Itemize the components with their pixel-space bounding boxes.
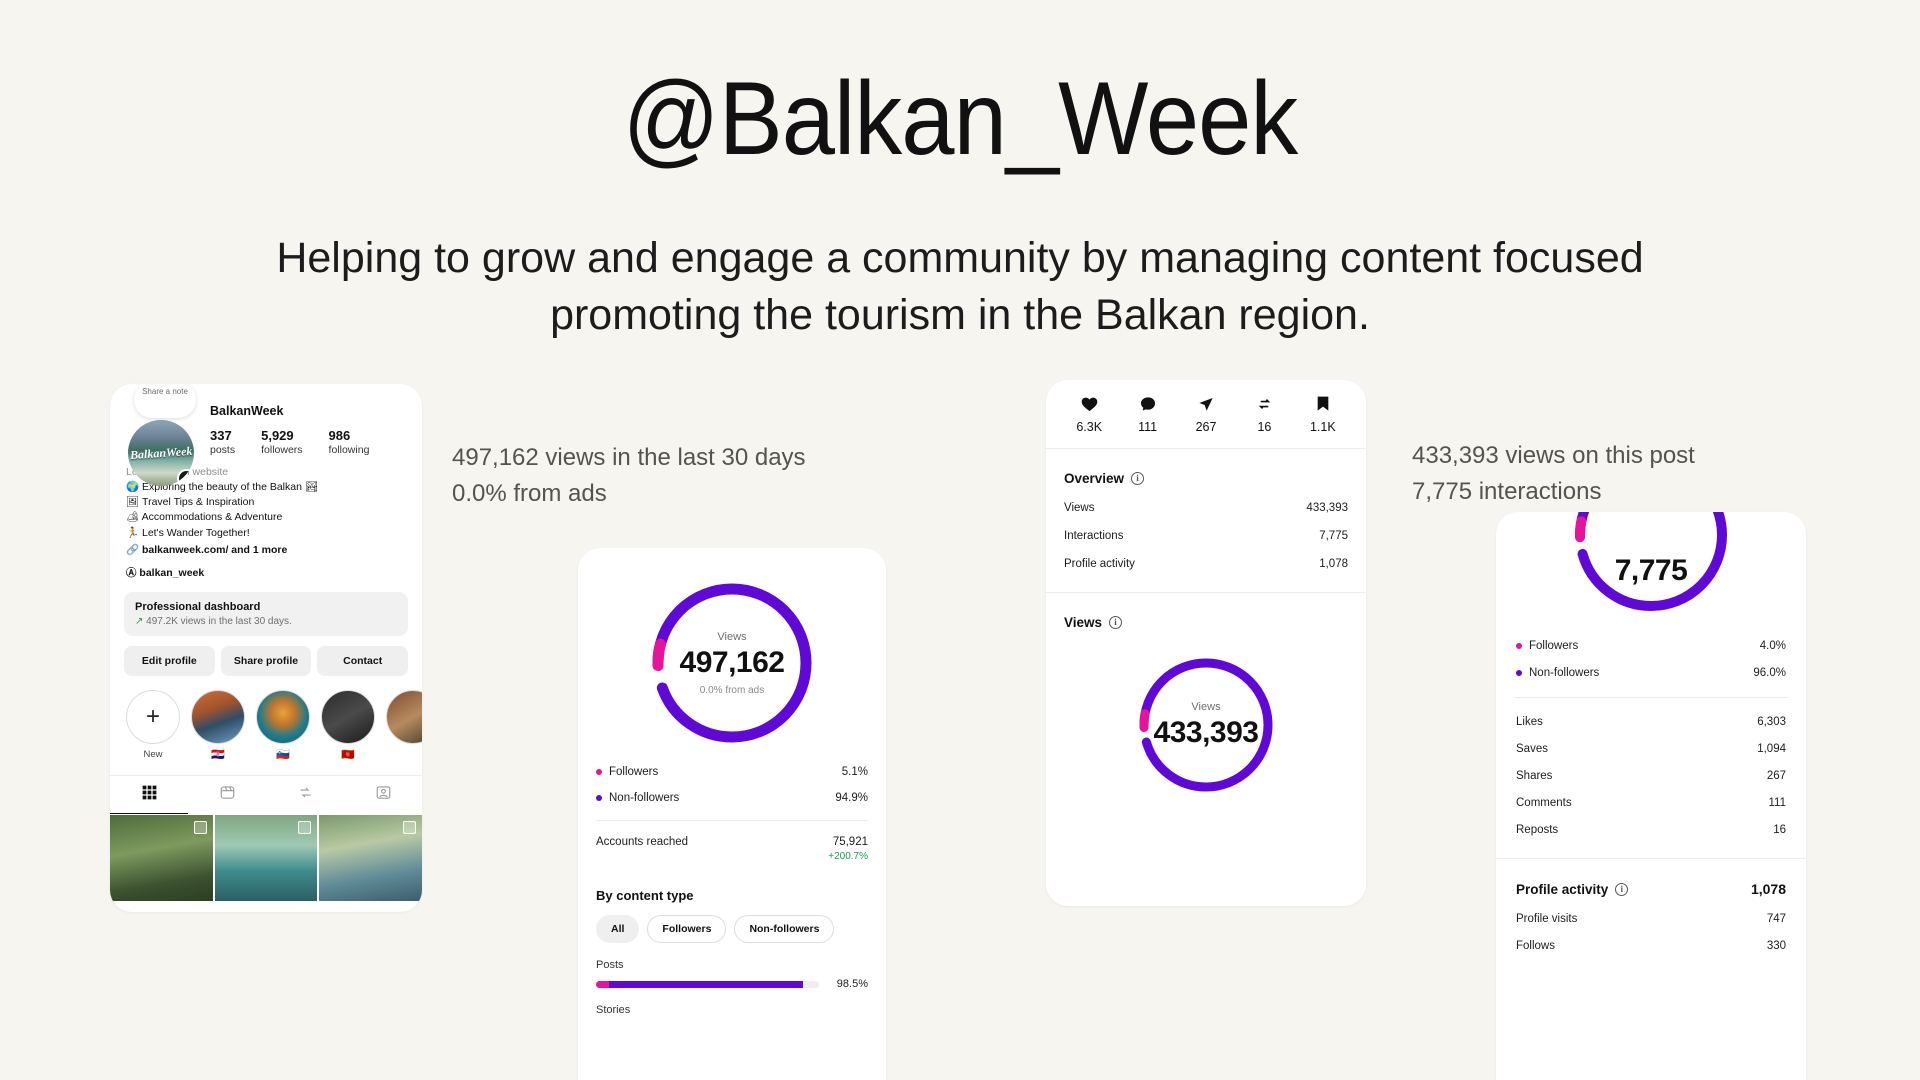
metric-shares[interactable]: 267 — [1177, 396, 1235, 434]
comment-icon — [1118, 396, 1176, 416]
tab-reposts[interactable] — [266, 776, 344, 814]
bar-label-posts: Posts — [578, 959, 886, 971]
row-value: 6,303 — [1757, 716, 1786, 728]
legend-value-followers: 4.0% — [1760, 640, 1786, 652]
legend-label-nonfollowers: Non-followers — [1529, 667, 1599, 679]
repost-icon — [1235, 396, 1293, 416]
legend-value-followers: 5.1% — [842, 766, 868, 778]
engagement-icons-row: 6.3K 111 267 16 — [1046, 380, 1366, 448]
metric-likes[interactable]: 6.3K — [1060, 396, 1118, 434]
legend-dot-followers — [596, 769, 602, 775]
views-donut-caption: Views — [717, 631, 746, 643]
page-title: @Balkan_Week — [77, 60, 1843, 180]
legend-label-followers: Followers — [1529, 640, 1578, 652]
tab-reels[interactable] — [188, 776, 266, 814]
row-saves[interactable]: Saves 1,094 — [1496, 743, 1806, 755]
highlight-new[interactable]: + New — [126, 690, 180, 761]
divider — [1496, 858, 1806, 859]
profile-activity-title: Profile activity — [1516, 882, 1608, 897]
highlight-thumb — [191, 690, 245, 744]
dashboard-subtitle: ↗ 497.2K views in the last 30 days. — [135, 616, 397, 627]
chip-non-followers[interactable]: Non-followers — [734, 915, 834, 943]
row-value: 330 — [1767, 940, 1786, 952]
overview-donut-caption: Views — [1191, 701, 1220, 713]
row-value: 16 — [1773, 824, 1786, 836]
post-caption: 433,393 views on this post 7,775 interac… — [1412, 438, 1695, 509]
overview-panel: 6.3K 111 267 16 — [1046, 380, 1366, 906]
stat-posts-label: posts — [210, 444, 235, 456]
accounts-reached-label: Accounts reached — [596, 836, 688, 848]
row-reposts[interactable]: Reposts 16 — [1496, 824, 1806, 836]
metric-saves-value: 1.1K — [1294, 420, 1352, 434]
legend-label-nonfollowers: Non-followers — [609, 792, 679, 804]
post-grid — [110, 815, 422, 901]
overview-donut-value: 433,393 — [1154, 716, 1259, 750]
share-a-note-bubble[interactable]: Share a note — [134, 384, 196, 418]
overview-row-label: Profile activity — [1064, 558, 1135, 570]
stat-following[interactable]: 986 following — [329, 428, 370, 456]
overview-header: Overview i — [1046, 449, 1366, 486]
metric-comments[interactable]: 111 — [1118, 396, 1176, 434]
accounts-reached-row[interactable]: Accounts reached 75,921 +200.7% — [578, 836, 886, 862]
row-likes[interactable]: Likes 6,303 — [1496, 716, 1806, 728]
overview-row-label: Interactions — [1064, 530, 1123, 542]
overview-row-profile-activity[interactable]: Profile activity 1,078 — [1046, 558, 1366, 570]
profile-stats: 337 posts 5,929 followers 986 following — [210, 428, 406, 456]
carousel-icon — [194, 821, 207, 834]
info-icon[interactable]: i — [1131, 472, 1144, 485]
profile-link[interactable]: 🔗 balkanweek.com/ and 1 more — [126, 543, 406, 556]
carousel-icon — [298, 821, 311, 834]
overview-row-interactions[interactable]: Interactions 7,775 — [1046, 530, 1366, 542]
row-label: Profile visits — [1516, 913, 1577, 925]
highlight-item[interactable]: 🇭🇷 — [191, 690, 245, 761]
divider — [596, 820, 868, 821]
row-value: 111 — [1769, 797, 1786, 809]
bar-row-posts: 98.5% — [578, 978, 886, 990]
highlight-flag: 🇭🇷 — [191, 748, 245, 761]
highlight-new-label: New — [126, 749, 180, 760]
trend-up-icon: ↗ — [135, 616, 143, 627]
row-value: 1,094 — [1757, 743, 1786, 755]
bio-line-2: 🖼 Travel Tips & Inspiration — [126, 495, 406, 510]
interactions-donut-chart: 7,775 — [1496, 512, 1806, 620]
page-root: @Balkan_Week Helping to grow and engage … — [0, 0, 1920, 1080]
divider — [1514, 697, 1788, 698]
grid-icon — [142, 785, 157, 800]
metric-likes-value: 6.3K — [1060, 420, 1118, 434]
highlight-thumb — [321, 690, 375, 744]
profile-action-buttons: Edit profile Share profile Contact — [110, 636, 422, 676]
profile-header: Share a note BalkanWeek + BalkanWeek 337… — [110, 384, 422, 456]
row-profile-visits[interactable]: Profile visits 747 — [1496, 913, 1806, 925]
legend-left: Non-followers — [596, 792, 679, 804]
views-donut-center: Views 497,162 0.0% from ads — [643, 574, 821, 752]
metric-saves[interactable]: 1.1K — [1294, 396, 1352, 434]
profile-meta: BalkanWeek 337 posts 5,929 followers 986… — [196, 402, 406, 456]
story-highlights: + New 🇭🇷 🇸🇮 🇲🇪 — [110, 676, 422, 761]
page-subtitle: Helping to grow and engage a community b… — [250, 230, 1670, 344]
stat-posts[interactable]: 337 posts — [210, 428, 235, 456]
add-story-icon[interactable]: + — [177, 469, 194, 486]
bar-label-stories: Stories — [578, 1004, 886, 1016]
tab-tagged[interactable] — [344, 776, 422, 814]
views-donut-value: 497,162 — [680, 646, 785, 680]
avatar[interactable]: BalkanWeek + — [128, 420, 194, 486]
overview-donut-center: Views 433,393 — [1131, 650, 1281, 800]
profile-activity-header: Profile activity i 1,078 — [1496, 881, 1806, 897]
bio-line-4: 🏃 Let's Wander Together! — [126, 526, 406, 541]
views-donut-sub: 0.0% from ads — [700, 685, 764, 696]
stat-posts-value: 337 — [210, 428, 235, 443]
legend-dot-nonfollowers — [1516, 670, 1522, 676]
legend-left: Followers — [1516, 640, 1578, 652]
content-type-chips: All Followers Non-followers — [578, 915, 886, 943]
highlight-item[interactable]: 🇲🇪 — [321, 690, 375, 761]
profile-activity-left: Profile activity i — [1516, 882, 1628, 897]
row-follows[interactable]: Follows 330 — [1496, 940, 1806, 952]
accounts-reached-delta: +200.7% — [828, 851, 868, 862]
contact-button[interactable]: Contact — [317, 646, 408, 676]
edit-profile-button[interactable]: Edit profile — [124, 646, 215, 676]
post-thumb[interactable] — [215, 815, 318, 901]
bio-line-3: 🏕 Accommodations & Adventure — [126, 510, 406, 525]
bar-segment-nonfollowers — [609, 981, 803, 988]
row-comments[interactable]: Comments 111 — [1496, 797, 1806, 809]
row-label: Follows — [1516, 940, 1555, 952]
highlight-thumb — [256, 690, 310, 744]
views-caption: 497,162 views in the last 30 days 0.0% f… — [452, 440, 806, 511]
overview-views-donut-chart: Views 433,393 — [1131, 650, 1281, 800]
metric-reposts-value: 16 — [1235, 420, 1293, 434]
instagram-profile-panel: Share a note BalkanWeek + BalkanWeek 337… — [110, 384, 422, 912]
stat-following-value: 986 — [329, 428, 370, 443]
tab-grid[interactable] — [110, 776, 188, 814]
overview-row-value: 433,393 — [1306, 502, 1348, 514]
row-shares[interactable]: Shares 267 — [1496, 770, 1806, 782]
row-label: Comments — [1516, 797, 1572, 809]
bookmark-icon — [1294, 396, 1352, 416]
overview-title: Overview — [1064, 471, 1124, 486]
add-highlight-icon: + — [126, 690, 180, 744]
reposts-icon — [298, 785, 313, 800]
legend-label-followers: Followers — [609, 766, 658, 778]
stat-following-label: following — [329, 444, 370, 456]
post-thumb[interactable] — [110, 815, 213, 901]
legend-left: Non-followers — [1516, 667, 1599, 679]
bar-segment-followers — [596, 981, 609, 988]
post-thumb[interactable] — [319, 815, 422, 901]
threads-handle[interactable]: Ⓐ balkan_week — [126, 565, 406, 580]
overview-row-value: 7,775 — [1319, 530, 1348, 542]
share-profile-button[interactable]: Share profile — [221, 646, 312, 676]
legend-dot-followers — [1516, 643, 1522, 649]
bar-pct-posts: 98.5% — [828, 978, 868, 990]
profile-tabbar — [110, 775, 422, 814]
views-donut-chart: Views 497,162 0.0% from ads — [643, 574, 821, 752]
heart-icon — [1060, 396, 1118, 416]
link-icon: 🔗 — [126, 544, 139, 556]
threads-icon: Ⓐ — [126, 567, 137, 579]
accounts-reached-values: 75,921 +200.7% — [828, 836, 868, 862]
profile-activity-value: 1,078 — [1751, 881, 1786, 897]
accounts-reached-value: 75,921 — [828, 836, 868, 848]
views-section-header: Views i — [1046, 593, 1366, 630]
metric-shares-value: 267 — [1177, 420, 1235, 434]
overview-row-views[interactable]: Views 433,393 — [1046, 502, 1366, 514]
by-content-type-title: By content type — [578, 888, 886, 903]
legend-dot-nonfollowers — [596, 795, 602, 801]
carousel-icon — [403, 821, 416, 834]
stat-followers-value: 5,929 — [261, 428, 302, 443]
highlight-flag: 🇲🇪 — [321, 748, 375, 761]
interactions-legend-followers: Followers 4.0% — [1496, 640, 1806, 652]
dashboard-title: Professional dashboard — [135, 601, 397, 613]
legend-left: Followers — [596, 766, 658, 778]
professional-dashboard[interactable]: Professional dashboard ↗ 497.2K views in… — [124, 592, 408, 636]
share-icon — [1177, 396, 1235, 416]
row-value: 747 — [1767, 913, 1786, 925]
stat-followers[interactable]: 5,929 followers — [261, 428, 302, 456]
row-label: Saves — [1516, 743, 1548, 755]
interactions-panel: 7,775 Followers 4.0% Non-followers 96.0%… — [1496, 512, 1806, 1080]
profile-username: BalkanWeek — [210, 404, 406, 418]
dashboard-subtitle-text: 497.2K views in the last 30 days. — [146, 616, 292, 627]
row-label: Shares — [1516, 770, 1552, 782]
stat-followers-label: followers — [261, 444, 302, 456]
threads-handle-text: balkan_week — [139, 567, 204, 579]
highlight-item[interactable] — [386, 690, 422, 761]
profile-link-text: balkanweek.com/ and 1 more — [142, 544, 287, 556]
chip-all[interactable]: All — [596, 915, 639, 943]
row-label: Likes — [1516, 716, 1543, 728]
row-label: Reposts — [1516, 824, 1558, 836]
views-insights-panel: Views 497,162 0.0% from ads Followers 5.… — [578, 548, 886, 1080]
highlight-flag: 🇸🇮 — [256, 748, 310, 761]
overview-row-value: 1,078 — [1319, 558, 1348, 570]
highlight-item[interactable]: 🇸🇮 — [256, 690, 310, 761]
interactions-legend-nonfollowers: Non-followers 96.0% — [1496, 667, 1806, 679]
interactions-donut-value: 7,775 — [1496, 554, 1806, 588]
overview-row-label: Views — [1064, 502, 1094, 514]
legend-value-nonfollowers: 96.0% — [1753, 667, 1786, 679]
avatar-label: BalkanWeek — [129, 443, 192, 462]
metric-reposts[interactable]: 16 — [1235, 396, 1293, 434]
info-icon[interactable]: i — [1109, 616, 1122, 629]
tagged-icon — [376, 785, 391, 800]
chip-followers[interactable]: Followers — [647, 915, 726, 943]
row-value: 267 — [1767, 770, 1786, 782]
highlight-thumb — [386, 690, 422, 744]
bar-track — [596, 981, 819, 988]
legend-row-nonfollowers: Non-followers 94.9% — [578, 792, 886, 804]
views-section-title: Views — [1064, 615, 1102, 630]
legend-row-followers: Followers 5.1% — [578, 766, 886, 778]
legend-value-nonfollowers: 94.9% — [835, 792, 868, 804]
metric-comments-value: 111 — [1118, 420, 1176, 434]
reels-icon — [220, 785, 235, 800]
info-icon[interactable]: i — [1615, 883, 1628, 896]
